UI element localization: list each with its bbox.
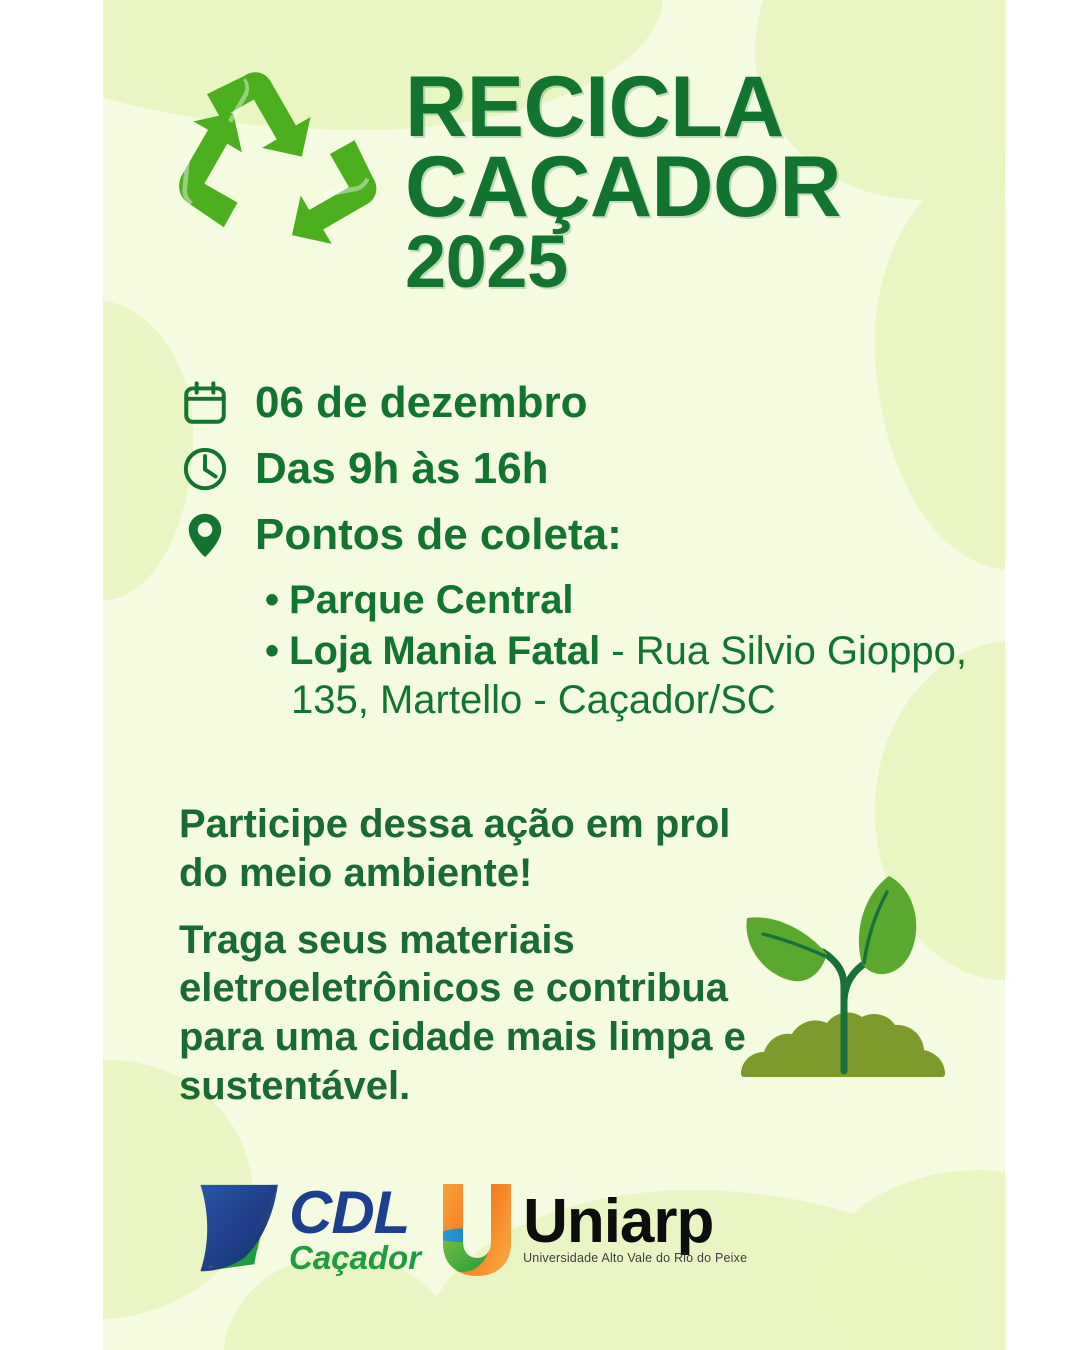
uniarp-main-text: Uniarp [523,1193,747,1250]
event-time-text: Das 9h às 16h [255,446,549,492]
recycle-symbol-icon [171,62,389,284]
event-details: 06 de dezembro Das 9h às 16h [177,378,987,740]
body-paragraph-2: Traga seus materiais eletroeletrônicos e… [179,916,779,1111]
poster-content: RECICLA CAÇADOR 2025 06 de dezembro [103,0,1005,1350]
event-date-row: 06 de dezembro [177,378,987,428]
event-time-row: Das 9h às 16h [177,444,987,494]
event-date-text: 06 de dezembro [255,380,588,426]
leaf-right-icon [859,876,916,974]
sponsor-logos: CDL Caçador [103,1180,1005,1278]
title-line-2: CAÇADOR [405,148,841,228]
title-line-3: 2025 [405,228,841,297]
collection-points-heading: Pontos de coleta: [255,512,622,558]
cdl-sub-text: Caçador [289,1242,421,1273]
cdl-main-text: CDL [289,1185,421,1241]
event-location-row: Pontos de coleta: [177,510,987,560]
cdl-logo: CDL Caçador [195,1181,421,1277]
uniarp-u-mark [437,1180,513,1278]
collection-points-list: •Parque Central •Loja Mania Fatal - Rua … [265,576,987,724]
leaf-left-icon [746,917,827,981]
uniarp-logo: Uniarp Universidade Alto Vale do Rio do … [437,1180,747,1278]
clock-icon [177,444,233,494]
body-paragraph-1: Participe dessa ação em prol do meio amb… [179,800,779,898]
calendar-icon [177,378,233,428]
title-line-1: RECICLA [405,68,841,148]
call-to-action-text: Participe dessa ação em prol do meio amb… [179,800,779,1129]
cdl-brazil-flag-mark [195,1181,285,1277]
list-item: •Loja Mania Fatal - Rua Silvio Gioppo, 1… [265,627,987,725]
poster-canvas: RECICLA CAÇADOR 2025 06 de dezembro [103,0,1005,1350]
uniarp-wordmark: Uniarp Universidade Alto Vale do Rio do … [523,1193,747,1265]
seedling-sprout-illustration [731,866,961,1096]
bullet-icon: • [265,629,279,673]
point-name: Parque Central [289,578,574,622]
poster-title-block: RECICLA CAÇADOR 2025 [405,68,841,297]
point-name: Loja Mania Fatal [289,629,600,673]
uniarp-sub-text: Universidade Alto Vale do Rio do Peixe [523,1251,747,1265]
cdl-wordmark: CDL Caçador [289,1185,421,1272]
bullet-icon: • [265,578,279,622]
poster-header: RECICLA CAÇADOR 2025 [103,62,1005,297]
location-pin-icon [177,510,233,560]
list-item: •Parque Central [265,576,987,625]
